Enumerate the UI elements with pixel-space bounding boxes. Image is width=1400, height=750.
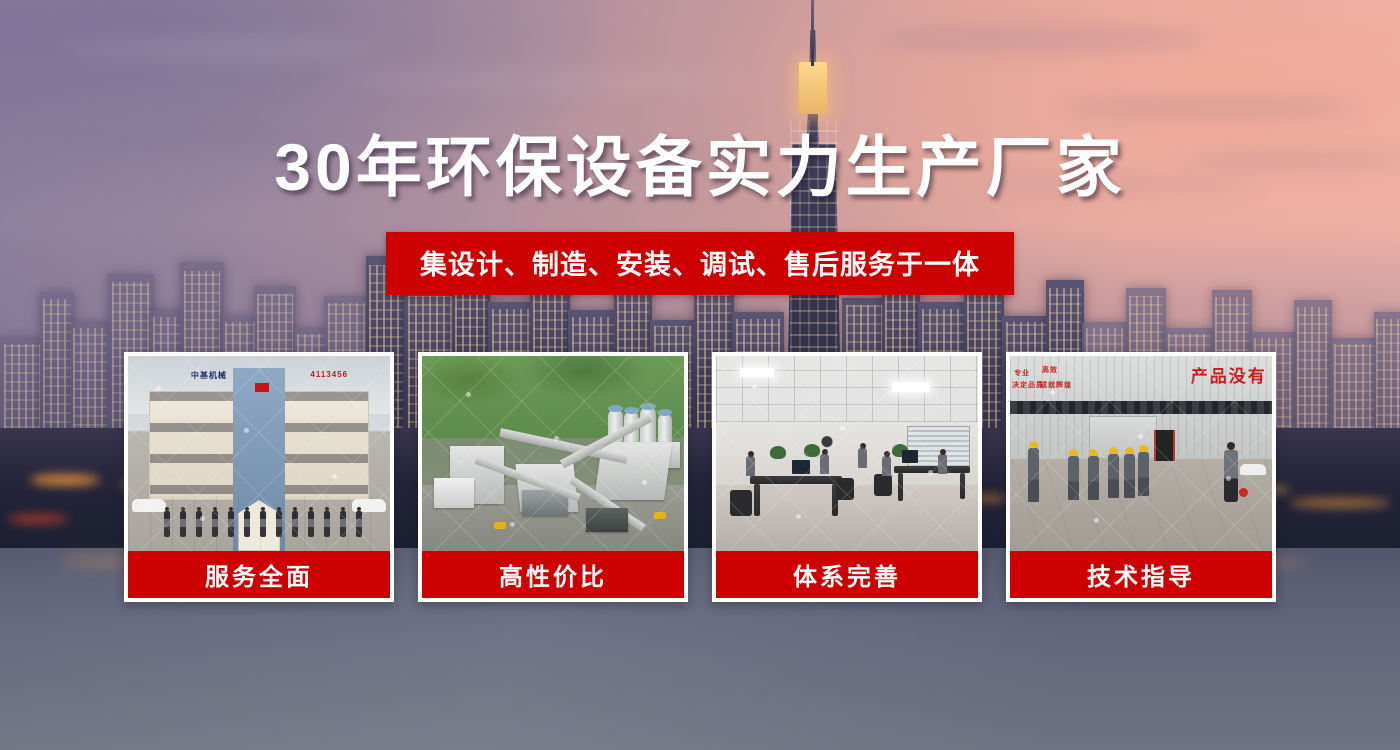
- card-photo-industrial-plant: [422, 356, 684, 551]
- feature-card[interactable]: 产品没有 专业 高效 决定品质 成就辉煌: [1006, 352, 1276, 602]
- feature-card-row: 中基机械 4113456: [124, 352, 1276, 602]
- red-helmet: [1239, 488, 1248, 497]
- card-photo-headquarters: 中基机械 4113456: [128, 356, 390, 551]
- feature-card[interactable]: 中基机械 4113456: [124, 352, 394, 602]
- workshop-signage: 产品没有: [1191, 362, 1267, 387]
- card-label: 技术指导: [1010, 551, 1272, 598]
- card-label: 体系完善: [716, 551, 978, 598]
- card-label: 高性价比: [422, 551, 684, 598]
- workshop-signage-small: 高效: [1042, 365, 1058, 375]
- building-signage: 中基机械: [191, 370, 227, 381]
- workshop-signage-small: 专业: [1014, 368, 1030, 378]
- tower-lit-crown: [799, 62, 827, 114]
- subtitle-banner: 集设计、制造、安装、调试、售后服务于一体: [386, 232, 1014, 295]
- promotional-banner: 30年环保设备实力生产厂家 集设计、制造、安装、调试、售后服务于一体 中基机械 …: [0, 0, 1400, 750]
- card-label: 服务全面: [128, 551, 390, 598]
- card-photo-office-interior: [716, 356, 978, 551]
- card-photo-workshop-workers: 产品没有 专业 高效 决定品质 成就辉煌: [1010, 356, 1272, 551]
- feature-card[interactable]: 高性价比: [418, 352, 688, 602]
- page-title: 30年环保设备实力生产厂家: [0, 133, 1400, 202]
- feature-card[interactable]: 体系完善: [712, 352, 982, 602]
- building-phone-number: 4113456: [310, 370, 348, 379]
- workshop-signage-small: 成就辉煌: [1040, 380, 1072, 390]
- tower-spire: [811, 0, 814, 66]
